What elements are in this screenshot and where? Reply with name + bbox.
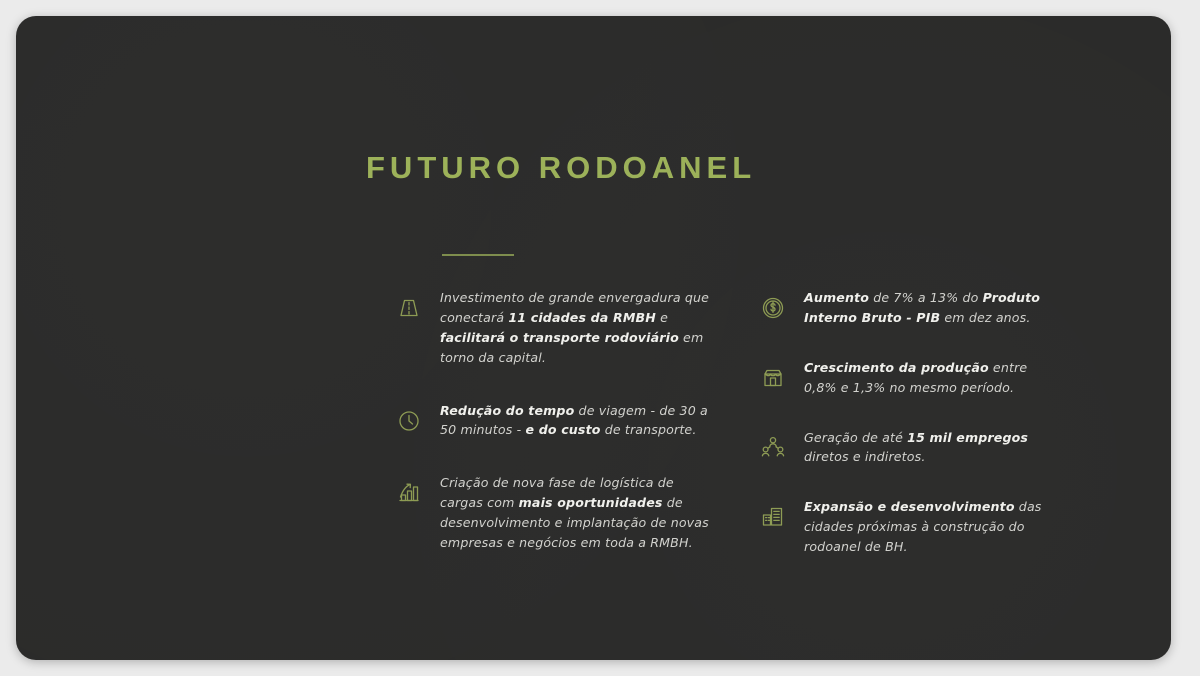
list-item: Aumento de 7% a 13% do Produto Interno B… (756, 288, 1056, 328)
store-factory-icon (756, 361, 790, 395)
list-item-text: Redução do tempo de viagem - de 30 a 50 … (440, 401, 712, 441)
clock-icon (392, 404, 426, 438)
list-item: Investimento de grande envergadura que c… (392, 288, 712, 368)
presentation-slide: FUTURO RODOANEL Investimento de grande e… (16, 16, 1171, 660)
dollar-coin-icon (756, 291, 790, 325)
right-column: Aumento de 7% a 13% do Produto Interno B… (756, 288, 1056, 582)
list-item: Geração de até 15 mil empregos diretos e… (756, 428, 1056, 468)
slide-content: FUTURO RODOANEL Investimento de grande e… (16, 16, 1171, 660)
list-item-text: Crescimento da produção entre 0,8% e 1,3… (804, 358, 1056, 398)
page-title: FUTURO RODOANEL (366, 150, 756, 186)
title-divider (442, 254, 514, 256)
list-item-text: Aumento de 7% a 13% do Produto Interno B… (804, 288, 1056, 328)
list-item-text: Expansão e desenvolvimento das cidades p… (804, 497, 1056, 557)
people-group-icon (756, 431, 790, 465)
list-item-text: Geração de até 15 mil empregos diretos e… (804, 428, 1056, 468)
list-item: Redução do tempo de viagem - de 30 a 50 … (392, 401, 712, 441)
highway-road-icon (392, 291, 426, 325)
list-item: Expansão e desenvolvimento das cidades p… (756, 497, 1056, 557)
growth-chart-icon (392, 476, 426, 510)
list-item-text: Investimento de grande envergadura que c… (440, 288, 712, 368)
buildings-icon (756, 500, 790, 534)
left-column: Investimento de grande envergadura que c… (392, 288, 712, 578)
list-item: Crescimento da produção entre 0,8% e 1,3… (756, 358, 1056, 398)
list-item: Criação de nova fase de logística de car… (392, 473, 712, 553)
list-item-text: Criação de nova fase de logística de car… (440, 473, 712, 553)
